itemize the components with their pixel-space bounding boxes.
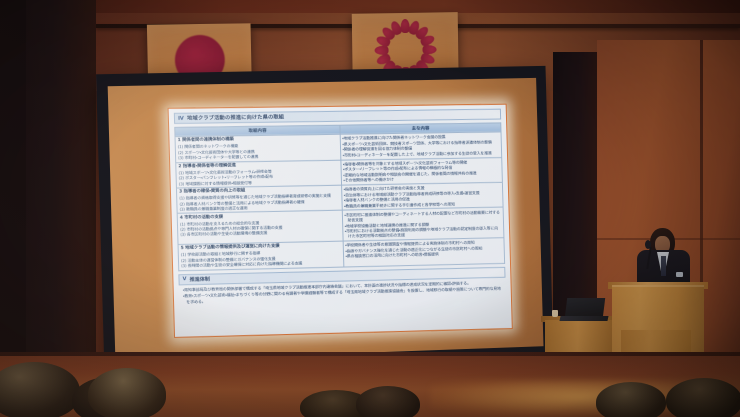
emblem-petal-icon bbox=[374, 46, 388, 55]
laptop-screen bbox=[565, 298, 605, 318]
table-cell-details: ・地域クラブ活動推進に向けた関係者ネットワーク会議の設置・県スポーツ・文化芸術団… bbox=[340, 132, 502, 160]
detail-bullet: ・市町村における活動拠点の整備・施設利用の調整や地域クラブ活動の認定制度の導入等… bbox=[345, 225, 502, 239]
slide-section-title: Ⅳ 地域クラブ活動の推進に向けた県の取組 bbox=[174, 109, 501, 124]
table-cell-details: ・指導者の資質向上に向けた研修会の実施と支援・自治体等における地域部活動クラブ活… bbox=[341, 182, 503, 210]
table-cell-measures: 5 地域クラブ活動の情報提供及び運営に向けた支援(1) 学校部活動の取組と地域移… bbox=[178, 241, 343, 270]
projection-screen-surface: Ⅳ 地域クラブ活動の推進に向けた県の取組 取組内容 主な内容 1 関係者間の連携… bbox=[108, 78, 544, 362]
table-body: 1 関係者間の連携体制の構築(1) 関係者間のネットワークの構築(2) スポーツ… bbox=[175, 132, 505, 270]
table-cell-details: ・学校関係者や生徒等の意識調査や情報提供による実施体制の市町村への周知・指導やガ… bbox=[343, 238, 505, 267]
table-cell-details: ・市区町村に推進体制の整備やコーディネートする人材の配置など市町村の活動需要に対… bbox=[342, 208, 504, 242]
projection-screen-frame: Ⅳ 地域クラブ活動の推進に向けた県の取組 取組内容 主な内容 1 関係者間の連携… bbox=[96, 66, 553, 374]
slide-section-title-text: 地域クラブ活動の推進に向けた県の取組 bbox=[187, 113, 284, 121]
audience-head bbox=[356, 386, 420, 417]
hall-ceiling-band bbox=[0, 0, 740, 13]
audience-head bbox=[666, 378, 740, 417]
table-cell-details: ・指導者・関係者等を対象とする地域スポーツ・文化芸術フォーラム等の開催・ポスター… bbox=[340, 157, 502, 185]
table-cell-measures: 2 指導者・関係者等の理解促進(1) 地域スポーツ・文化芸術活動のフォーラム・研… bbox=[176, 160, 341, 188]
conference-hall-photo: Ⅳ 地域クラブ活動の推進に向けた県の取組 取組内容 主な内容 1 関係者間の連携… bbox=[0, 0, 740, 417]
laptop-base bbox=[559, 316, 608, 321]
cup bbox=[552, 310, 558, 317]
table-row: 5 地域クラブ活動の情報提供及び運営に向けた支援(1) 学校部活動の取組と地域移… bbox=[178, 238, 505, 270]
hall-left-dark-strip bbox=[0, 0, 26, 372]
table-cell-measures: 3 指導者の確保・資質の向上の取組(1) 指導者の資格取得支援や研修等を通じた地… bbox=[176, 185, 341, 214]
speaker-necktie bbox=[661, 256, 666, 276]
audience-head bbox=[88, 368, 166, 417]
presentation-slide: Ⅳ 地域クラブ活動の推進に向けた県の取組 取組内容 主な内容 1 関係者間の連携… bbox=[168, 104, 513, 338]
footer-section-title-text: 推進体制 bbox=[189, 275, 209, 283]
slide-section-number: Ⅳ bbox=[178, 115, 184, 121]
audience-head bbox=[596, 382, 666, 417]
speaker-name-badge bbox=[676, 272, 683, 277]
slide-table: 取組内容 主な内容 1 関係者間の連携体制の構築(1) 関係者間のネットワークの… bbox=[174, 122, 505, 271]
slide-footer-section: Ⅴ 推進体制 ・県知事部局及び教育局の関係部署で構成する「埼玉県地域クラブ活動推… bbox=[178, 266, 506, 304]
table-cell-measures: 1 関係者間の連携体制の構築(1) 関係者間のネットワークの構築(2) スポーツ… bbox=[175, 134, 340, 162]
footer-section-number: Ⅴ bbox=[182, 276, 186, 282]
table-cell-measures: 4 市町村の活動の支援(1) 市町村の活動を支えるための総合的な支援(2) 市町… bbox=[177, 211, 342, 245]
